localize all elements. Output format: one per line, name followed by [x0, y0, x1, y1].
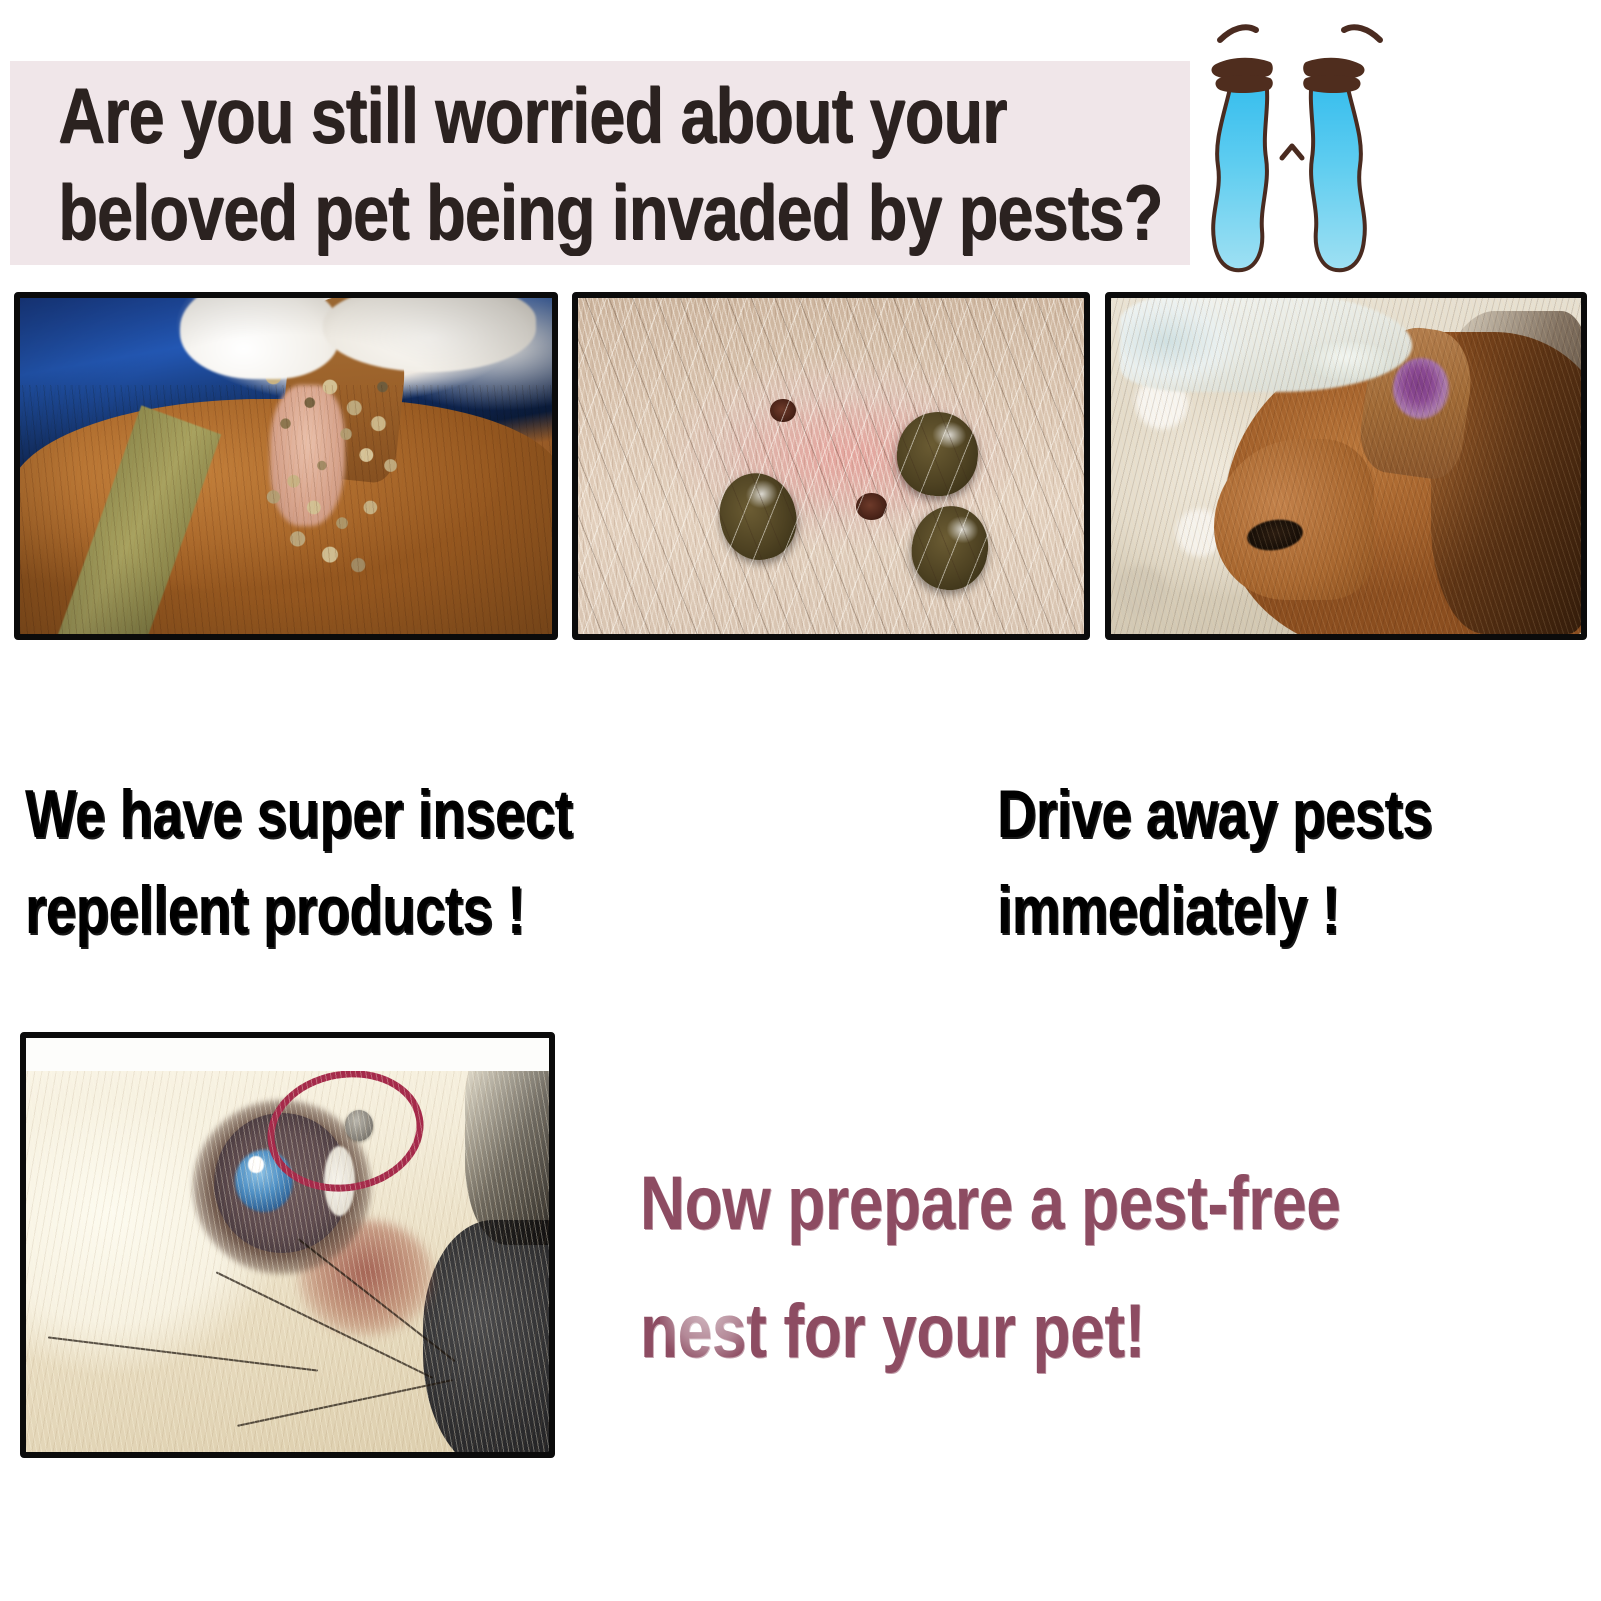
- drive-away-copy: Drive away pests immediately !: [955, 766, 1375, 958]
- engorged-ticks-photo: [572, 292, 1090, 640]
- fur-texture: [1111, 298, 1581, 634]
- eyebrow-left-icon: [1220, 27, 1256, 40]
- eye-tick-photo: [20, 1032, 555, 1458]
- photo-top-margin: [26, 1038, 549, 1071]
- eye-left-lower-icon: [1216, 75, 1273, 93]
- tear-left-icon: [1213, 80, 1267, 270]
- photo-inner: [26, 1038, 549, 1452]
- page-title: Are you still worried about your beloved…: [58, 67, 1388, 261]
- drive-away-line-1: Drive away pests: [997, 766, 1333, 862]
- drive-away-line-2: immediately !: [997, 862, 1333, 958]
- photo-vignette: [20, 298, 552, 634]
- nest-line-2: nest for your pet!: [640, 1268, 1341, 1396]
- headline-banner: Are you still worried about your beloved…: [10, 61, 1190, 265]
- ear-wound-photo: [1105, 292, 1587, 640]
- photo-inner: [578, 298, 1084, 634]
- headline-line-1: Are you still worried about your: [58, 67, 1162, 164]
- crying-face-icon: [1208, 8, 1448, 290]
- repellent-line-2: repellent products !: [25, 862, 572, 958]
- photo-inner: [20, 298, 552, 634]
- repellent-copy: We have super insect repellent products …: [25, 766, 709, 958]
- nest-line-1: Now prepare a pest-free: [640, 1140, 1341, 1268]
- photo-inner: [1111, 298, 1581, 634]
- headline-line-2: beloved pet being invaded by pests?: [58, 164, 1162, 261]
- nest-copy: Now prepare a pest-free nest for your pe…: [640, 1140, 1494, 1396]
- mouth-icon: [1282, 146, 1302, 158]
- fur-texture: [26, 1038, 549, 1452]
- stray-hairs: [578, 298, 1084, 634]
- tear-right-icon: [1311, 80, 1365, 270]
- repellent-line-1: We have super insect: [25, 766, 572, 862]
- eyebrow-right-icon: [1344, 27, 1380, 40]
- eye-right-lower-icon: [1303, 75, 1360, 93]
- tick-infested-ear-photo: [14, 292, 558, 640]
